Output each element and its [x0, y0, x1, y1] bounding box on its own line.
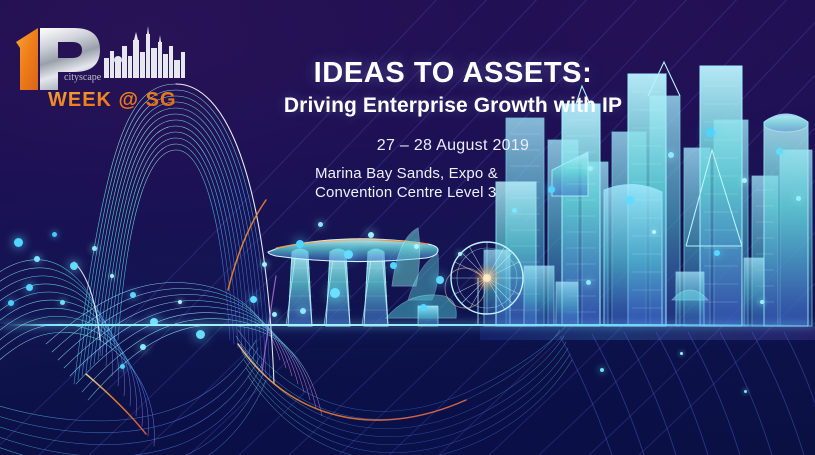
event-date: 27 – 28 August 2019 [253, 137, 653, 155]
small-ferris-wheel [445, 268, 485, 308]
horizon-line [0, 324, 815, 326]
marina-bay-sands [268, 239, 438, 326]
venue-line-1: Marina Bay Sands, Expo & [315, 165, 498, 182]
event-banner: cityscape WEEK @ SG IDEAS TO ASSETS: Dri… [0, 0, 815, 455]
event-venue: Marina Bay Sands, Expo & Convention Cent… [315, 164, 653, 204]
page-subtitle: Driving Enterprise Growth with IP [253, 94, 653, 118]
logo-micro-text: cityscape [64, 72, 102, 83]
ip-week-sg-logo[interactable]: cityscape WEEK @ SG [8, 18, 198, 113]
page-title: IDEAS TO ASSETS: [253, 58, 653, 88]
logo-tagline: WEEK @ SG [48, 89, 177, 111]
singapore-flyer [451, 242, 523, 326]
event-text-block: IDEAS TO ASSETS: Driving Enterprise Grow… [253, 58, 653, 203]
skyline-icon [104, 26, 185, 78]
artscience-museum [386, 228, 456, 326]
venue-line-2: Convention Centre Level 3 [315, 184, 496, 201]
